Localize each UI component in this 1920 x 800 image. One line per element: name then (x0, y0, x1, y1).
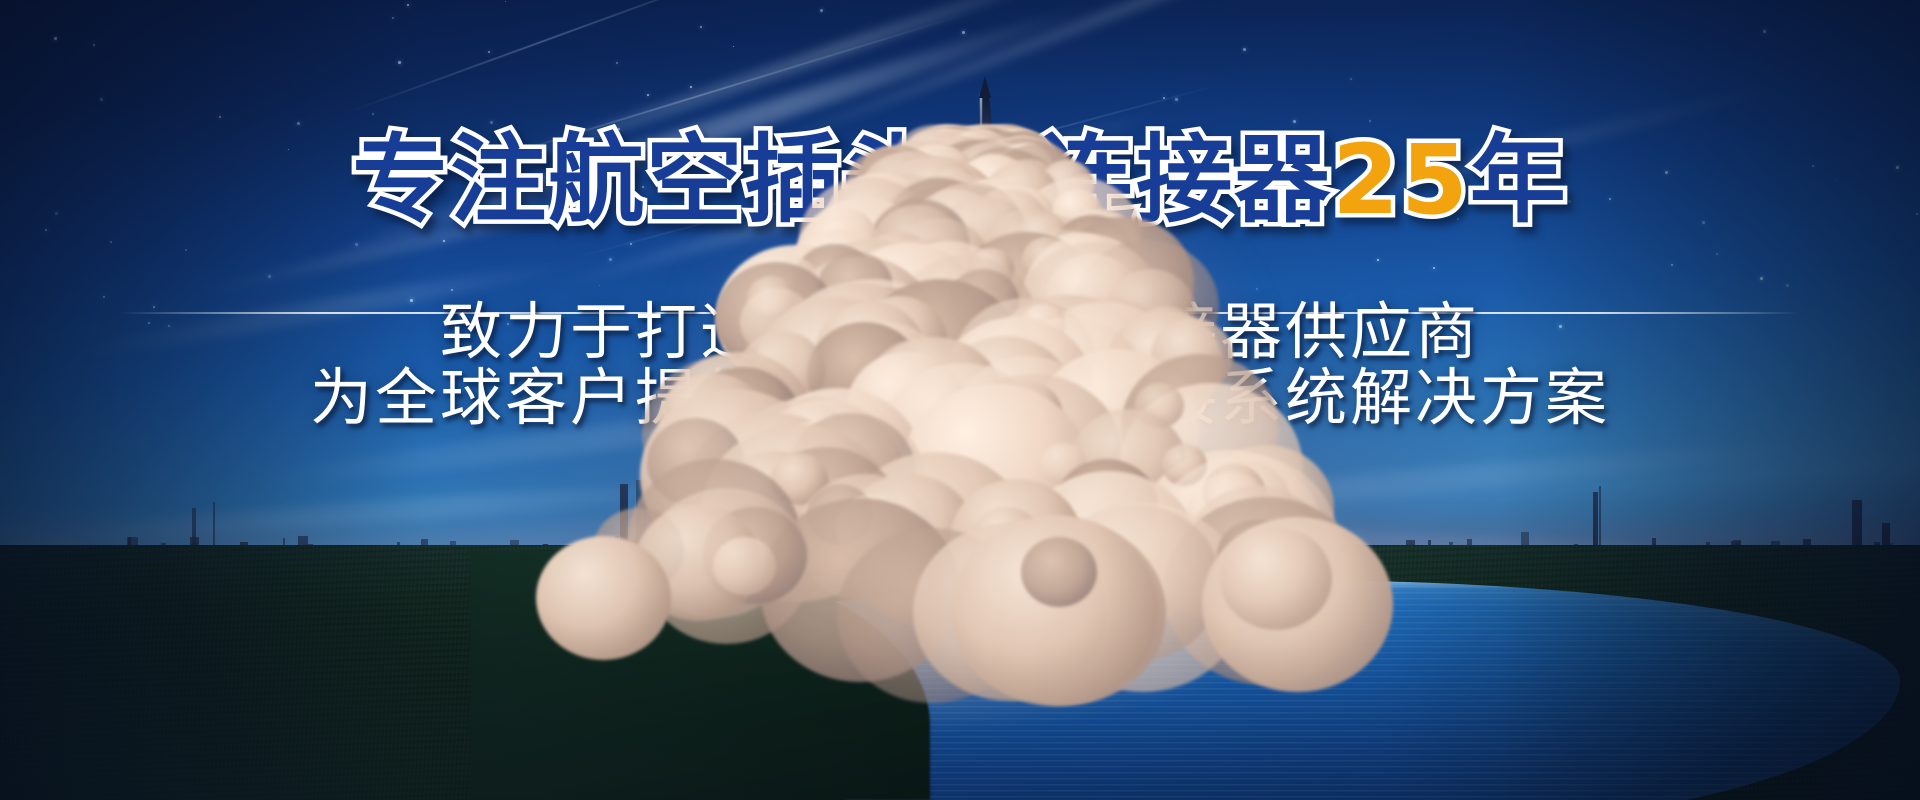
headline-number: 25 (1332, 124, 1470, 236)
cloud-puff (1220, 527, 1332, 630)
cloud-puff (1021, 537, 1097, 607)
cloud-puff (536, 536, 671, 660)
headline-suffix: 年 (1470, 124, 1568, 236)
hero-banner: 专注航空插头、连接器25年 致力于打造全球一流的连接器供应商 为全球客户提供可靠… (0, 0, 1920, 800)
cloud-puff (713, 537, 776, 595)
